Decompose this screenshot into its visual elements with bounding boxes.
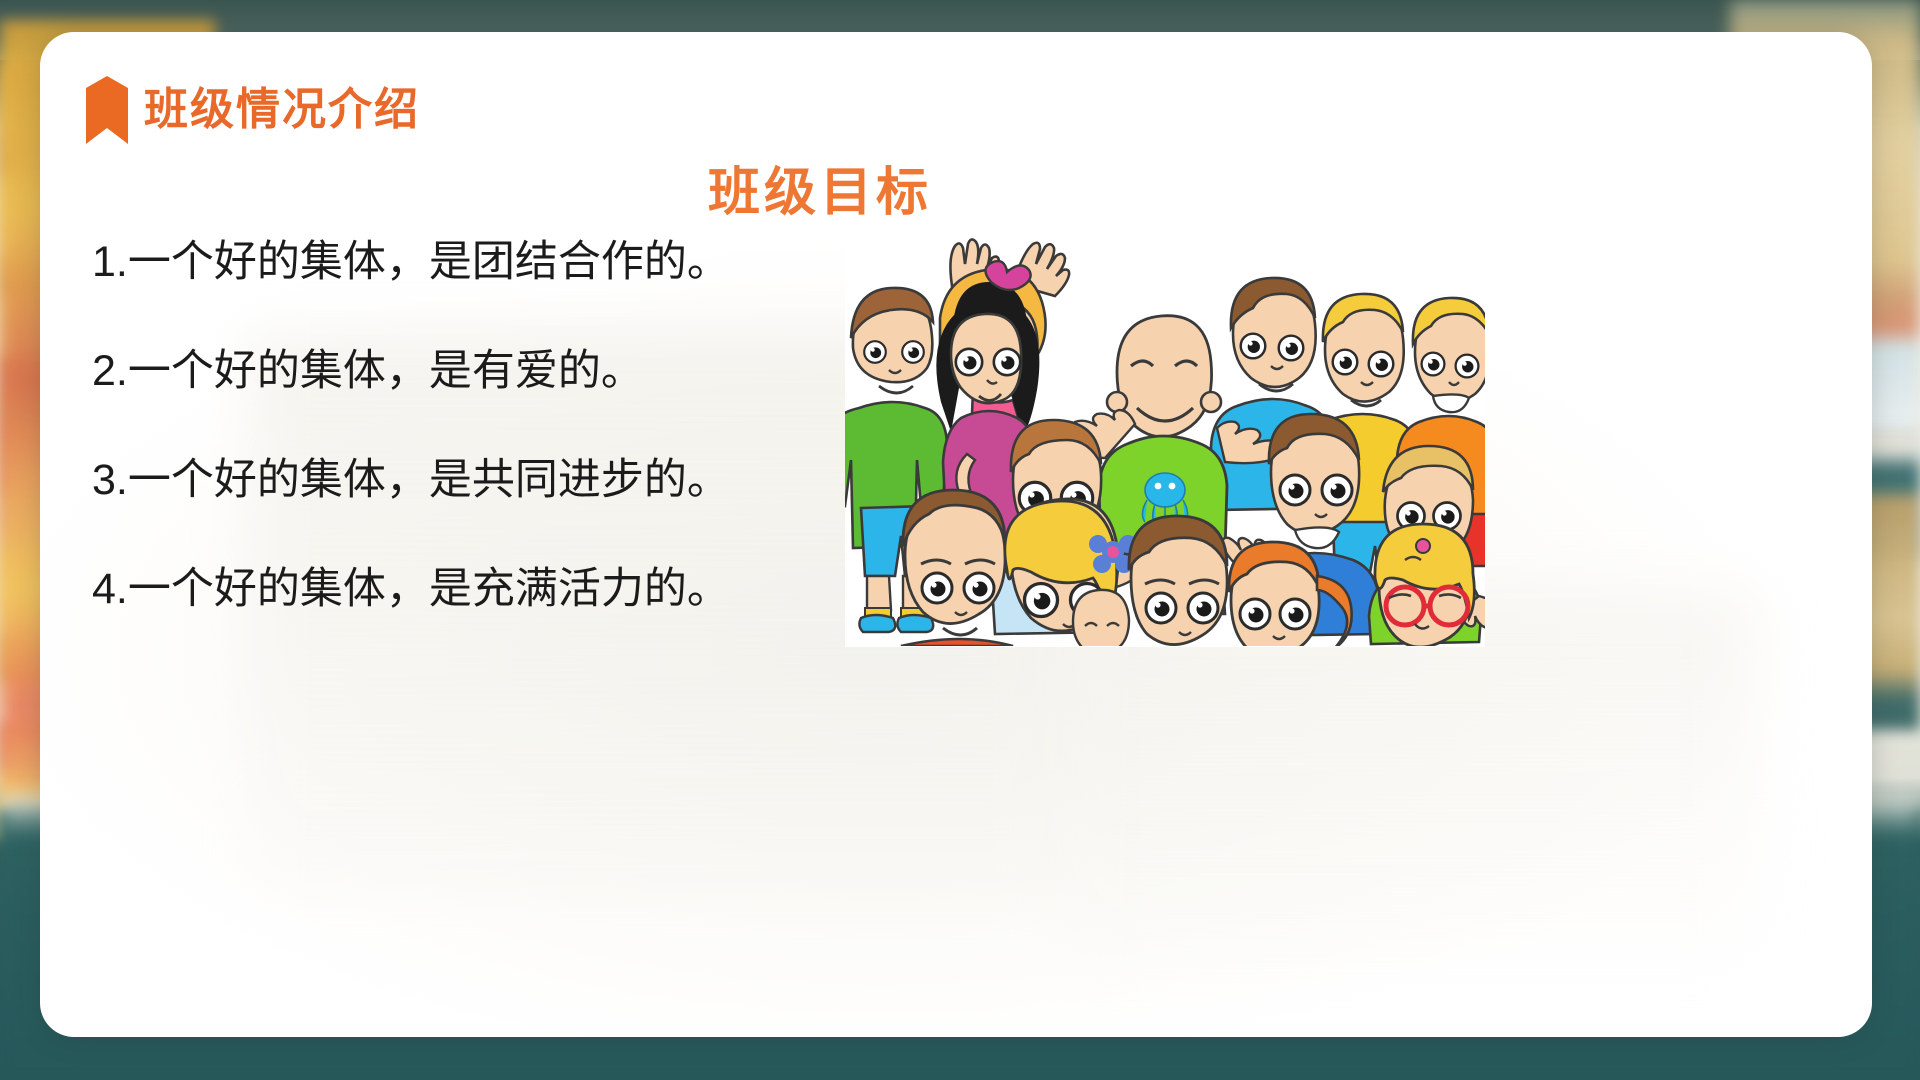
- bookmark-icon: [86, 76, 128, 144]
- list-item-text: 一个好的集体，是团结合作的。: [128, 238, 730, 286]
- goal-list: 1.一个好的集体，是团结合作的。 2.一个好的集体，是有爱的。 3.一个好的集体…: [92, 240, 882, 613]
- list-item: 3.一个好的集体，是共同进步的。: [92, 458, 882, 503]
- header: 班级情况介绍: [86, 76, 420, 144]
- list-item: 2.一个好的集体，是有爱的。: [92, 349, 882, 394]
- list-item: 1.一个好的集体，是团结合作的。: [92, 240, 882, 285]
- section-title: 班级目标: [40, 150, 1736, 225]
- content-card: 班级情况介绍 班级目标 1.一个好的集体，是团结合作的。 2.一个好的集体，是有…: [40, 32, 1872, 1037]
- list-item: 4.一个好的集体，是充满活力的。: [92, 567, 882, 612]
- list-item-number: 4.: [92, 565, 128, 613]
- list-item-text: 一个好的集体，是充满活力的。: [128, 565, 730, 613]
- cartoon-children-illustration: [845, 222, 1485, 647]
- card-background-blur-2: [1060, 592, 1760, 972]
- list-item-text: 一个好的集体，是共同进步的。: [128, 456, 730, 504]
- list-item-number: 3.: [92, 456, 128, 504]
- list-item-text: 一个好的集体，是有爱的。: [128, 347, 644, 395]
- list-item-number: 2.: [92, 347, 128, 395]
- cartoon-children-group-image: [845, 222, 1485, 647]
- page-title: 班级情况介绍: [144, 88, 420, 132]
- list-item-number: 1.: [92, 238, 128, 286]
